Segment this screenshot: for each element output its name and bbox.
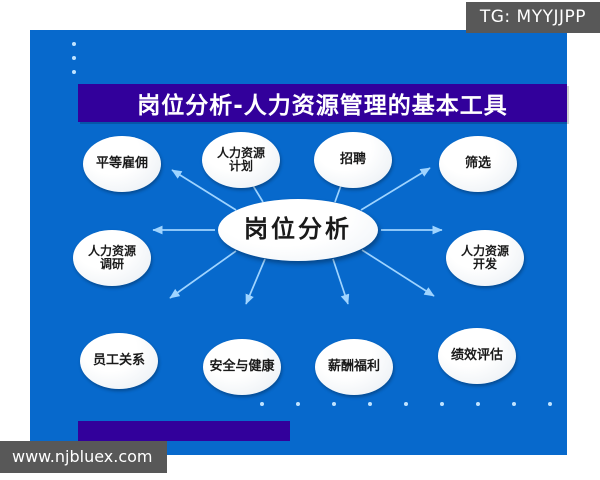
slide-canvas: 岗位分析-人力资源管理的基本工具 [30,30,567,455]
decorative-dot [548,402,552,406]
decorative-dot [368,402,372,406]
node-label: 绩效评估 [449,349,505,363]
node-employee-relations[interactable]: 员工关系 [80,333,158,389]
node-recruitment[interactable]: 招聘 [314,132,392,188]
node-label: 筛选 [463,157,493,171]
node-job-analysis-center[interactable]: 岗位分析 [218,199,378,261]
decorative-dot [72,56,76,60]
decorative-dot [404,402,408,406]
watermark-website: www.njbluex.com [0,441,167,473]
node-label: 安全与健康 [207,360,276,374]
watermark-telegram: TG: MYYJJPP [466,2,600,33]
slide-title-bar: 岗位分析-人力资源管理的基本工具 [78,84,567,122]
arrow-to-employee-relations [170,251,236,298]
node-label: 平等雇佣 [94,157,150,171]
node-equal-employment[interactable]: 平等雇佣 [83,136,161,192]
node-label: 薪酬福利 [326,360,382,374]
arrow-to-compensation [333,259,348,304]
decorative-dot [260,402,264,406]
decorative-dot [512,402,516,406]
node-hr-research[interactable]: 人力资源 调研 [73,230,151,286]
node-compensation[interactable]: 薪酬福利 [315,339,393,395]
decorative-dot [332,402,336,406]
node-hr-planning[interactable]: 人力资源 计划 [202,132,280,188]
node-screening[interactable]: 筛选 [439,136,517,192]
node-performance[interactable]: 绩效评估 [438,328,516,384]
node-label: 岗位分析 [242,217,354,243]
node-label: 人力资源 开发 [459,245,511,271]
node-label: 人力资源 调研 [86,245,138,271]
decorative-dot [72,70,76,74]
node-safety-health[interactable]: 安全与健康 [203,339,281,395]
decorative-dot [296,402,300,406]
arrow-to-performance [362,250,434,296]
arrow-to-safety-health [246,259,265,304]
decorative-dot [72,42,76,46]
slide-bottom-accent-bar [78,421,290,441]
node-label: 招聘 [338,153,368,167]
node-label: 人力资源 计划 [215,147,267,173]
decorative-dot [440,402,444,406]
page-title: 岗位分析-人力资源管理的基本工具 [137,86,508,120]
node-label: 员工关系 [91,354,147,368]
node-hr-development[interactable]: 人力资源 开发 [446,230,524,286]
decorative-dot [476,402,480,406]
